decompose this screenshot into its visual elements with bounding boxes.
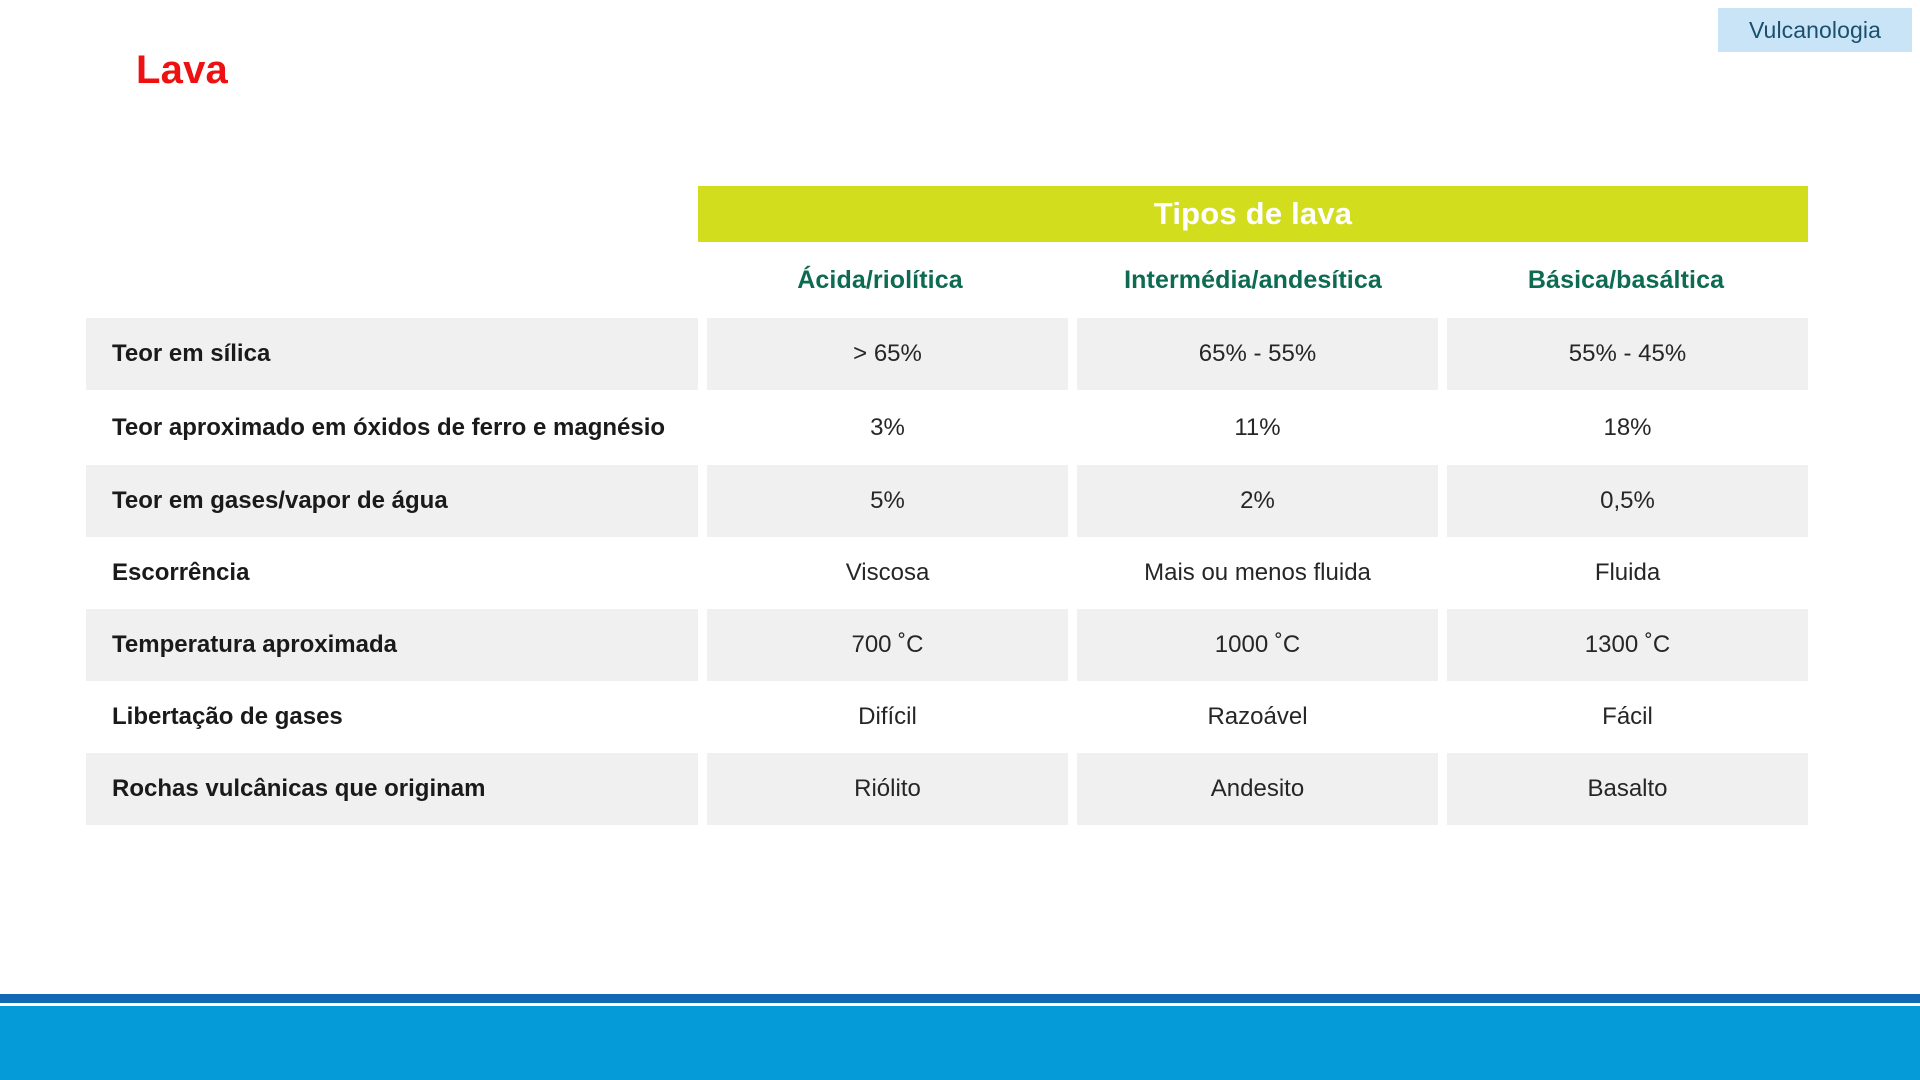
column-header-acida: Ácida/riolítica xyxy=(698,266,1062,295)
table-group-header: Tipos de lava xyxy=(698,186,1808,242)
category-badge-label: Vulcanologia xyxy=(1749,19,1881,42)
category-badge: Vulcanologia xyxy=(1718,8,1912,52)
table-row: Teor em gases/vapor de água 5% 2% 0,5% xyxy=(86,465,1808,537)
row-value: 0,5% xyxy=(1447,465,1808,537)
row-value: Fluida xyxy=(1447,537,1808,609)
row-value: > 65% xyxy=(707,318,1068,390)
table-row: Libertação de gases Difícil Razoável Fác… xyxy=(86,681,1808,753)
row-value: Andesito xyxy=(1077,753,1438,825)
table-row: Temperatura aproximada 700 ˚C 1000 ˚C 13… xyxy=(86,609,1808,681)
row-value: Razoável xyxy=(1077,681,1438,753)
table-row: Escorrência Viscosa Mais ou menos fluida… xyxy=(86,537,1808,609)
row-value: 5% xyxy=(707,465,1068,537)
row-value: Difícil xyxy=(707,681,1068,753)
row-value: 18% xyxy=(1447,390,1808,465)
table-row: Rochas vulcânicas que originam Riólito A… xyxy=(86,753,1808,825)
row-value: 1300 ˚C xyxy=(1447,609,1808,681)
row-value: Basalto xyxy=(1447,753,1808,825)
row-label: Libertação de gases xyxy=(86,681,698,753)
row-label: Temperatura aproximada xyxy=(86,609,698,681)
row-value: 55% - 45% xyxy=(1447,318,1808,390)
row-value: 2% xyxy=(1077,465,1438,537)
row-value: 1000 ˚C xyxy=(1077,609,1438,681)
slide-canvas: Vulcanologia Lava Tipos de lava Ácida/ri… xyxy=(0,0,1920,1080)
table-row: Teor em sílica > 65% 65% - 55% 55% - 45% xyxy=(86,318,1808,390)
row-value: Mais ou menos fluida xyxy=(1077,537,1438,609)
group-header-spacer xyxy=(86,186,698,242)
page-title: Lava xyxy=(136,48,228,93)
row-value: 65% - 55% xyxy=(1077,318,1438,390)
footer-bar-light xyxy=(0,1006,1920,1080)
row-value: 11% xyxy=(1077,390,1438,465)
table-column-header-row: Ácida/riolítica Intermédia/andesítica Bá… xyxy=(86,242,1808,318)
row-value: Riólito xyxy=(707,753,1068,825)
row-label: Teor aproximado em óxidos de ferro e mag… xyxy=(86,390,698,465)
row-label: Rochas vulcânicas que originam xyxy=(86,753,698,825)
footer-bar-dark xyxy=(0,994,1920,1003)
column-header-basica: Básica/basáltica xyxy=(1444,266,1808,295)
row-value: 700 ˚C xyxy=(707,609,1068,681)
table-row: Teor aproximado em óxidos de ferro e mag… xyxy=(86,390,1808,465)
row-label: Escorrência xyxy=(86,537,698,609)
row-value: Viscosa xyxy=(707,537,1068,609)
table-group-header-row: Tipos de lava xyxy=(86,186,1808,242)
column-header-intermedia: Intermédia/andesítica xyxy=(1071,266,1435,295)
lava-types-table: Tipos de lava Ácida/riolítica Intermédia… xyxy=(86,186,1808,825)
row-label: Teor em gases/vapor de água xyxy=(86,465,698,537)
row-value: 3% xyxy=(707,390,1068,465)
row-value: Fácil xyxy=(1447,681,1808,753)
row-label: Teor em sílica xyxy=(86,318,698,390)
